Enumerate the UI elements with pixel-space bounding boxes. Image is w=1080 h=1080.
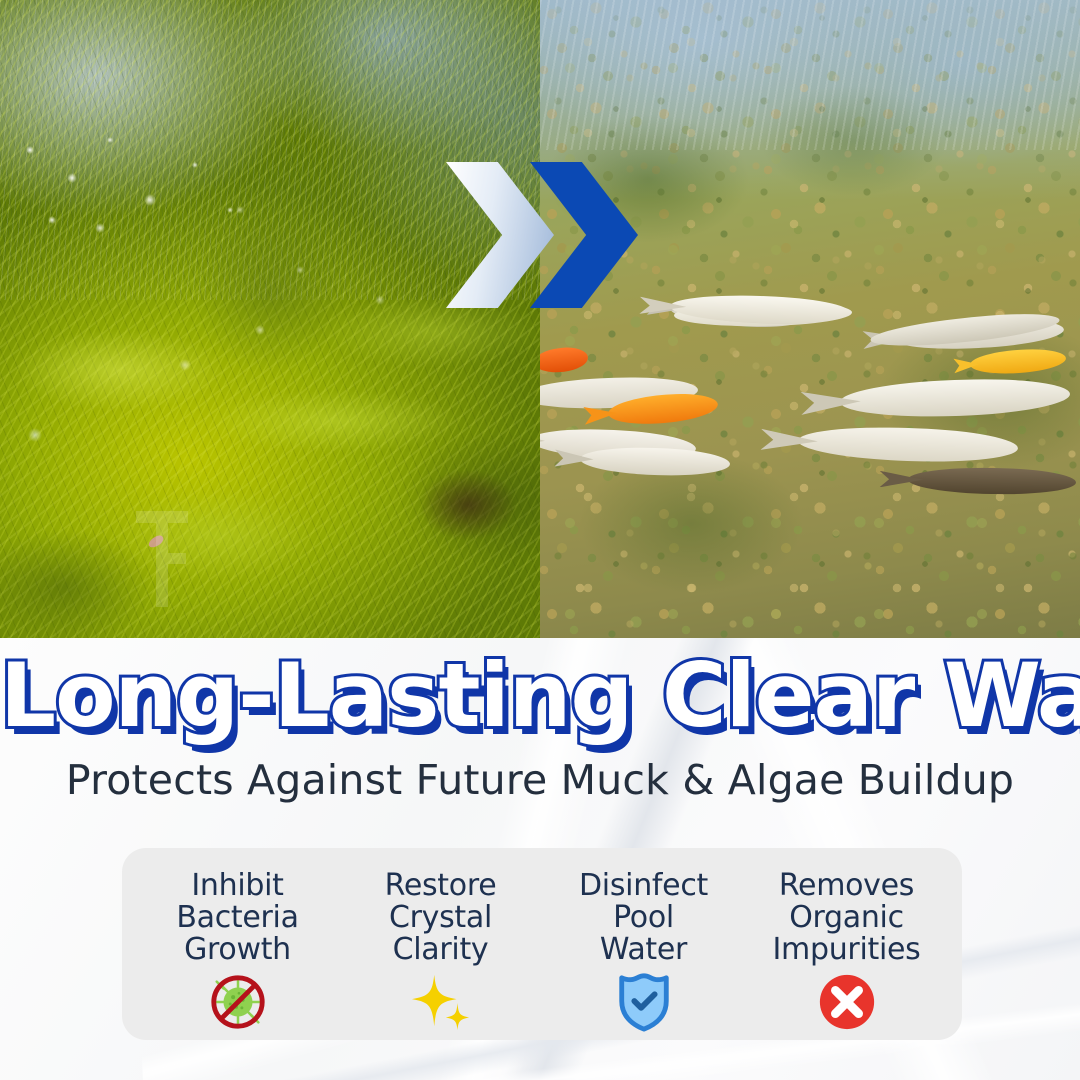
watermark-glyph [132,505,192,613]
after-photo-clear-pond [540,0,1080,638]
feature-benefits-card: Inhibit Bacteria Growth [122,848,962,1040]
feature-label-line: Impurities [773,934,921,966]
red-x-circle-icon [816,971,878,1033]
marketing-text-panel: Long-Lasting Clear Water Protects Agains… [0,638,1080,1080]
before-after-comparison [0,0,1080,638]
feature-label-line: Crystal [385,902,497,934]
page-title: Long-Lasting Clear Water [0,652,1080,740]
product-promo-graphic: Long-Lasting Clear Water Protects Agains… [0,0,1080,1080]
no-bacteria-icon [207,971,269,1033]
feature-item-inhibit-bacteria-growth: Inhibit Bacteria Growth [140,870,335,1033]
feature-label: Removes Organic Impurities [773,870,921,965]
shield-check-icon [613,971,675,1033]
feature-label: Inhibit Bacteria Growth [176,870,298,965]
koi-fish-dark [908,467,1076,496]
feature-label-line: Organic [773,902,921,934]
feature-label-line: Restore [385,870,497,902]
feature-label-line: Growth [176,934,298,966]
feature-label-line: Disinfect [579,870,708,902]
sparkles-icon [410,971,472,1033]
chevron-light [446,162,554,308]
koi-fish-spotted [580,445,731,477]
before-photo-algae-pond [0,0,540,638]
submerged-debris [420,470,516,540]
feature-label: Disinfect Pool Water [579,870,708,965]
surface-bubbles [0,0,540,638]
water-surface-ripples [540,0,1080,150]
feature-label-line: Inhibit [176,870,298,902]
feature-label-line: Pool [579,902,708,934]
feature-label-line: Bacteria [176,902,298,934]
double-chevron-right-icon [446,162,638,308]
feature-item-restore-crystal-clarity: Restore Crystal Clarity [343,870,538,1033]
page-subtitle: Protects Against Future Muck & Algae Bui… [0,758,1080,803]
feature-label: Restore Crystal Clarity [385,870,497,965]
feature-item-removes-organic-impurities: Removes Organic Impurities [749,870,944,1033]
feature-item-disinfect-pool-water: Disinfect Pool Water [546,870,741,1033]
feature-label-line: Clarity [385,934,497,966]
feature-label-line: Removes [773,870,921,902]
feature-label-line: Water [579,934,708,966]
